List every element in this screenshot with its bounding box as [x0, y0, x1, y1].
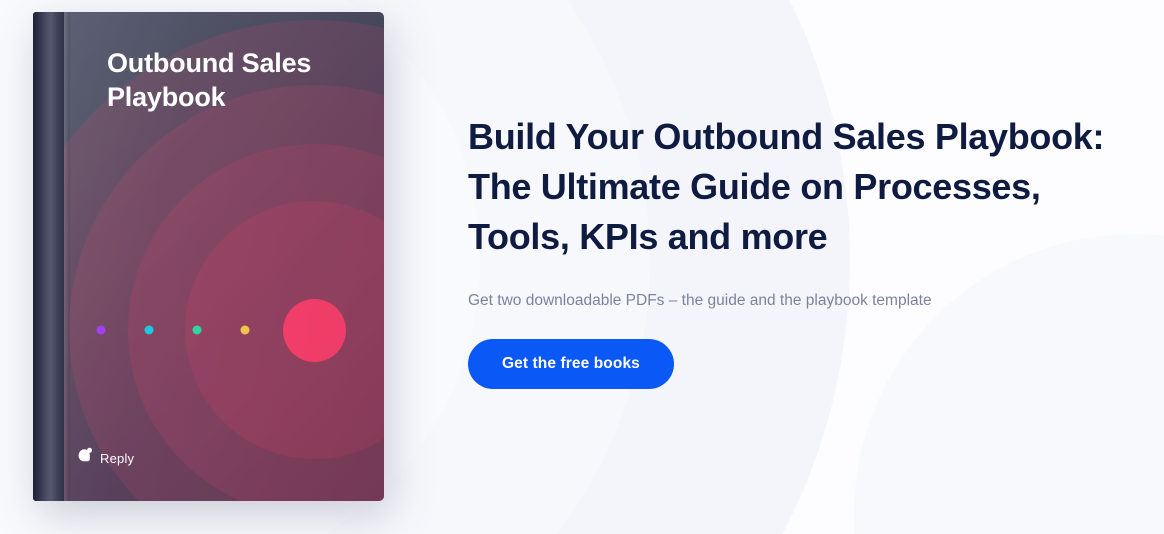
book-brand-name: Reply — [100, 451, 134, 466]
reply-logo-icon — [76, 447, 93, 469]
cover-core-circle — [283, 299, 346, 362]
page-title: Build Your Outbound Sales Playbook: The … — [468, 112, 1108, 262]
book-cover-image: Outbound Sales Playbook Reply — [33, 12, 384, 501]
book-spine-crease — [64, 12, 70, 501]
hero-content: Build Your Outbound Sales Playbook: The … — [468, 112, 1108, 389]
book-spine — [33, 12, 64, 501]
book-brand: Reply — [76, 447, 134, 469]
book-cover-face: Outbound Sales Playbook Reply — [33, 12, 384, 501]
hero-section: Outbound Sales Playbook Reply Build Your… — [0, 0, 1164, 534]
get-the-free-books-button[interactable]: Get the free books — [468, 339, 674, 389]
page-subtitle: Get two downloadable PDFs – the guide an… — [468, 290, 1108, 312]
book-cover-title: Outbound Sales Playbook — [107, 46, 357, 114]
